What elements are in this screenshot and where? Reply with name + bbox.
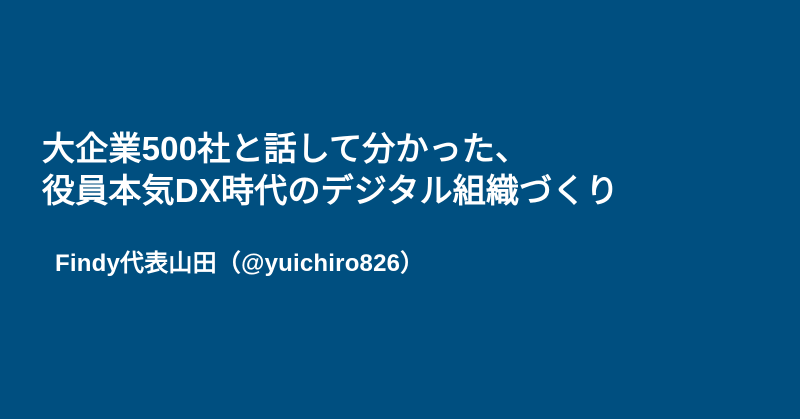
slide-subtitle: Findy代表山田（@yuichiro826） xyxy=(55,247,775,281)
slide-title-line-1: 大企業500社と話して分かった、 xyxy=(42,128,762,170)
slide-title: 大企業500社と話して分かった、 役員本気DX時代のデジタル組織づくり xyxy=(42,128,762,212)
slide-subtitle-author: Findy代表山田（@yuichiro826） xyxy=(55,247,775,281)
slide-title-line-2: 役員本気DX時代のデジタル組織づくり xyxy=(42,170,762,212)
title-slide: 大企業500社と話して分かった、 役員本気DX時代のデジタル組織づくり Find… xyxy=(0,0,800,419)
